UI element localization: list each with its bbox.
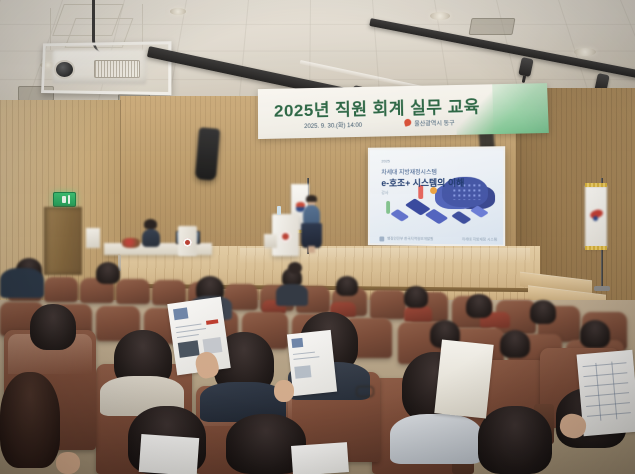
audience-shoulders-front-4 <box>390 414 482 464</box>
audience-bun-hair <box>288 262 302 274</box>
handout-accent-1 <box>206 319 218 325</box>
table-col-2 <box>611 362 617 420</box>
slide-iso-bottle <box>386 201 390 214</box>
city-ceremonial-flag <box>585 186 607 248</box>
audience-eyeglasses <box>356 386 374 397</box>
table-line-2 <box>583 372 627 377</box>
audience-torso-mid-2 <box>0 268 44 298</box>
seat-back-r15 <box>44 277 78 302</box>
city-flag-fringe-bottom <box>585 246 607 250</box>
audience-head-back-8 <box>530 300 556 324</box>
presenter-torso <box>303 205 320 225</box>
staff-hair <box>144 219 157 229</box>
ceiling-downlight-3 <box>574 48 596 56</box>
event-banner: 2025년 직원 회계 실무 교육 2025. 9. 30.(화) 14:00 … <box>258 83 549 139</box>
projection-screen: 2025 차세대 지방재정시스템 e-호조+ 시스템의 이해 강사 행정안전부 … <box>368 146 505 247</box>
handout-line-1 <box>176 324 202 329</box>
presenter-hair <box>306 195 317 202</box>
audience-hand-2 <box>274 380 294 402</box>
slide-iso-laptop <box>425 209 449 225</box>
ceiling-vent-right <box>469 18 516 35</box>
city-logo-mark-icon <box>403 118 412 127</box>
slide-iso-panel <box>390 209 409 222</box>
audience-head-back-11 <box>500 330 530 358</box>
slide-iso-card <box>451 211 472 224</box>
handout-line-2 <box>176 328 206 333</box>
table-line-6 <box>587 412 631 417</box>
handout-image-block-3 <box>294 365 311 379</box>
exit-door-icon <box>68 195 70 204</box>
podium-emblem-icon <box>280 231 291 242</box>
table-line-4 <box>585 392 629 397</box>
table-line-3 <box>584 382 628 387</box>
exit-sign <box>53 192 76 207</box>
audience-head-back-2 <box>96 262 120 284</box>
ceiling-downlight-1 <box>170 8 186 15</box>
podium-water-bottle <box>277 206 281 215</box>
handout-thumbnail-2 <box>291 338 303 348</box>
handout-image-block-1 <box>178 340 200 358</box>
audience-head-back-9 <box>580 320 610 348</box>
audience-hand-4 <box>56 452 80 474</box>
table-col-1 <box>595 363 601 421</box>
banner-datetime: 2025. 9. 30.(화) 14:00 <box>304 120 362 130</box>
seat-red-accent-3 <box>404 306 432 322</box>
table-line-5 <box>586 402 630 407</box>
slide-footer-left: 행정안전부 한국지역정보개발원 <box>387 237 433 242</box>
banner-organization: 울산광역시 동구 <box>414 118 455 128</box>
projector-lens <box>54 60 75 79</box>
table-line-1 <box>583 362 627 367</box>
handout-line-4 <box>293 352 315 355</box>
slide-eyebrow: 2025 <box>381 158 390 163</box>
city-flag-fringe-top <box>585 183 607 187</box>
slide-title: e-호조+ 시스템의 이해 <box>381 176 464 189</box>
audience-head-front-5 <box>30 304 76 350</box>
audience-head-back-6 <box>404 286 428 308</box>
handout-booklet-5 <box>139 434 200 474</box>
slide-footer-right: 차세대 지방재정 시스템 <box>462 237 497 242</box>
audience-head-front-9 <box>478 406 552 474</box>
presenter-standing <box>299 196 323 254</box>
handout-thumbnail-1 <box>173 307 188 320</box>
handout-line-3 <box>177 334 199 338</box>
staff-torso <box>142 229 160 247</box>
presentation-slide: 2025 차세대 지방재정시스템 e-호조+ 시스템의 이해 강사 행정안전부 … <box>370 148 503 244</box>
slide-footer-logo-icon <box>379 236 384 241</box>
presenter-legs <box>308 246 315 253</box>
side-exit-doorway <box>44 207 82 275</box>
handout-line-5 <box>293 356 319 360</box>
handout-booklet-3 <box>434 339 493 418</box>
slide-iso-box <box>470 205 489 217</box>
supply-box-left <box>86 228 100 248</box>
side-lectern-emblem-icon <box>183 238 192 247</box>
ceiling-downlight-2 <box>430 12 450 20</box>
city-emblem-blue <box>593 216 598 221</box>
supply-box-right <box>264 234 277 248</box>
banner-green-accent-light <box>492 83 549 134</box>
audience-head-front-6 <box>0 372 60 468</box>
slide-kicker: 차세대 지방재정시스템 <box>381 167 437 176</box>
projector-vent-grille <box>94 60 140 78</box>
seat-back-r13 <box>116 279 150 304</box>
audience-head-back-5 <box>336 276 358 296</box>
presenter-skirt <box>301 223 322 248</box>
handout-booklet-6 <box>291 442 349 474</box>
staff-member-seated <box>140 220 162 246</box>
slide-byline: 강사 <box>381 190 388 196</box>
seat-back-r6 <box>370 290 406 319</box>
auditorium-photo-scene: 2025년 직원 회계 실무 교육 2025. 9. 30.(화) 14:00 … <box>0 0 635 474</box>
flower-arrangement <box>122 238 140 248</box>
handout-booklet-2 <box>287 330 337 396</box>
exit-running-man-icon <box>62 196 66 203</box>
audience-head-back-7 <box>466 294 492 318</box>
audience-torso-mid-1 <box>276 284 308 306</box>
city-flag-base <box>594 286 610 291</box>
